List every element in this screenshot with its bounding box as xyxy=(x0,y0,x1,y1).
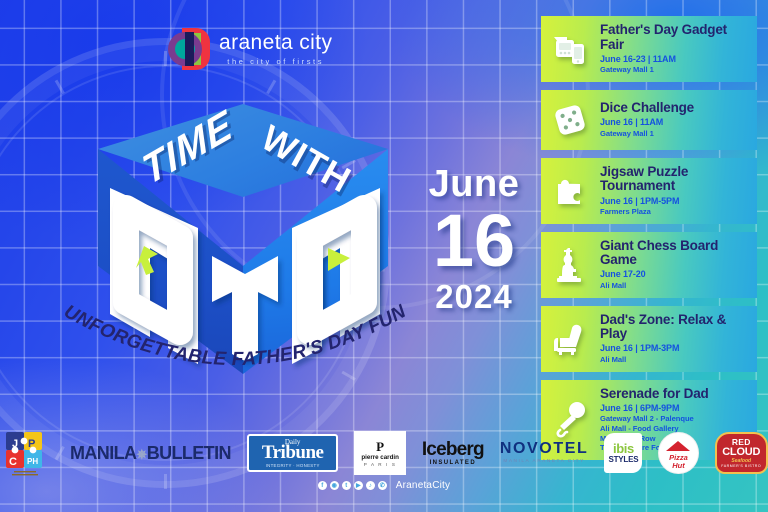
jci-ph-puzzle-logo-icon: J P C PH xyxy=(0,428,54,478)
event-when: June 16 | 1PM-5PM xyxy=(600,197,749,207)
recliner-chair-icon xyxy=(547,316,593,362)
event-list: Father's Day Gadget Fair June 16-23 | 11… xyxy=(541,16,757,460)
event-where: Gateway Mall 1 xyxy=(600,65,749,75)
araneta-city-logo-icon xyxy=(168,28,210,70)
youtube-icon[interactable]: ▶ xyxy=(354,481,363,490)
brand-logo: araneta city the city of firsts xyxy=(168,28,332,70)
instagram-icon[interactable]: ◉ xyxy=(330,481,339,490)
social-bar: f ◉ t ▶ ♪ ✆ AranetaCity xyxy=(0,480,768,491)
event-title: Dice Challenge xyxy=(600,101,749,116)
ibis-styles-logo: ibis STYLES xyxy=(604,433,642,473)
date-day: 16 xyxy=(415,205,533,278)
red-cloud-line2: CLOUD xyxy=(722,447,760,458)
event-card-gadget-fair[interactable]: Father's Day Gadget Fair June 16-23 | 11… xyxy=(541,16,757,82)
poster-canvas: araneta city the city of firsts TIME WIT… xyxy=(0,0,768,512)
sponsor-logo-row: J P C PH MANILA✵BULLETIN Daily Tribune I… xyxy=(0,424,768,482)
social-handle: AranetaCity xyxy=(396,480,450,491)
event-where: Gateway Mall 1 xyxy=(600,129,749,139)
red-cloud-foot: FARMER'S BISTRO xyxy=(721,464,761,468)
pierre-cardin-city: P A R I S xyxy=(364,462,397,467)
arch-tagline-text: UNFORGETTABLE FATHER'S DAY FUN xyxy=(60,301,410,370)
social-icon-group: f ◉ t ▶ ♪ ✆ xyxy=(318,481,387,490)
jigsaw-puzzle-icon xyxy=(547,168,593,214)
event-title: Jigsaw Puzzle Tournament xyxy=(600,165,749,194)
iceberg-sub: INSULATED xyxy=(430,460,477,466)
event-when: June 16-23 | 11AM xyxy=(600,55,749,65)
red-cloud-logo: RED CLOUD Seafood FARMER'S BISTRO xyxy=(715,432,768,474)
pizza-hut-name: Pizza Hut xyxy=(662,454,694,470)
brand-tagline: the city of firsts xyxy=(219,58,332,66)
svg-text:J: J xyxy=(12,438,18,450)
viber-icon[interactable]: ✆ xyxy=(378,481,387,490)
ibis-name: ibis xyxy=(613,442,634,455)
novotel-name: NOVOTEL xyxy=(500,441,589,457)
event-where: Ali Mall xyxy=(600,355,749,365)
date-year: 2024 xyxy=(415,280,533,313)
twitter-icon[interactable]: t xyxy=(342,481,351,490)
iceberg-name: Iceberg xyxy=(422,440,484,459)
novotel-logo: NOVOTEL MANILA ARANETA CITY xyxy=(500,441,589,465)
event-where: Ali Mall xyxy=(600,281,749,291)
event-title: Giant Chess Board Game xyxy=(600,239,749,268)
daily-tribune-logo: Daily Tribune INTEGRITY · HONESTY xyxy=(247,434,339,472)
tribune-name: Tribune xyxy=(262,443,324,462)
event-title: Father's Day Gadget Fair xyxy=(600,23,749,52)
pierre-cardin-mark: P xyxy=(376,440,384,453)
pizza-hut-logo: Pizza Hut xyxy=(658,432,698,474)
chess-piece-icon xyxy=(547,242,593,288)
event-card-dads-zone[interactable]: Dad's Zone: Relax & Play June 16 | 1PM-3… xyxy=(541,306,757,372)
tribune-sub: INTEGRITY · HONESTY xyxy=(266,463,320,468)
event-when: June 16 | 11AM xyxy=(600,118,749,128)
svg-text:C: C xyxy=(9,456,17,468)
facebook-icon[interactable]: f xyxy=(318,481,327,490)
event-date-block: June 16 2024 xyxy=(415,165,533,313)
dice-icon xyxy=(547,97,593,143)
event-title: Dad's Zone: Relax & Play xyxy=(600,313,749,342)
pierre-cardin-logo: P pierre cardin P A R I S xyxy=(354,431,405,475)
manila-bulletin-name: MANILA✵BULLETIN xyxy=(70,443,231,464)
tiktok-icon[interactable]: ♪ xyxy=(366,481,375,490)
ibis-sub: STYLES xyxy=(608,456,638,464)
event-card-jigsaw-tournament[interactable]: Jigsaw Puzzle Tournament June 16 | 1PM-5… xyxy=(541,158,757,224)
manila-bulletin-logo: MANILA✵BULLETIN xyxy=(70,443,231,464)
gadget-devices-icon xyxy=(547,26,593,72)
event-title: Serenade for Dad xyxy=(600,387,749,402)
pierre-cardin-name: pierre cardin xyxy=(361,454,399,461)
date-month: June xyxy=(415,165,533,203)
novotel-sub: MANILA ARANETA CITY xyxy=(503,460,584,465)
event-card-dice-challenge[interactable]: Dice Challenge June 16 | 11AM Gateway Ma… xyxy=(541,90,757,150)
event-when: June 16 | 6PM-9PM xyxy=(600,404,749,414)
event-where: Farmers Plaza xyxy=(600,207,749,217)
hero-arch-tagline: UNFORGETTABLE FATHER'S DAY FUN xyxy=(60,300,410,390)
svg-text:PH: PH xyxy=(27,457,38,466)
svg-text:P: P xyxy=(28,438,35,450)
manila-bulletin-star-icon: ✵ xyxy=(136,447,146,462)
iceberg-logo: Iceberg INSULATED xyxy=(422,440,484,466)
event-when: June 16 | 1PM-3PM xyxy=(600,344,749,354)
brand-name: araneta city xyxy=(219,32,332,53)
event-card-giant-chess[interactable]: Giant Chess Board Game June 17-20 Ali Ma… xyxy=(541,232,757,298)
event-when: June 17-20 xyxy=(600,270,749,280)
svg-text:UNFORGETTABLE FATHER'S DAY FUN: UNFORGETTABLE FATHER'S DAY FUN xyxy=(60,301,410,370)
